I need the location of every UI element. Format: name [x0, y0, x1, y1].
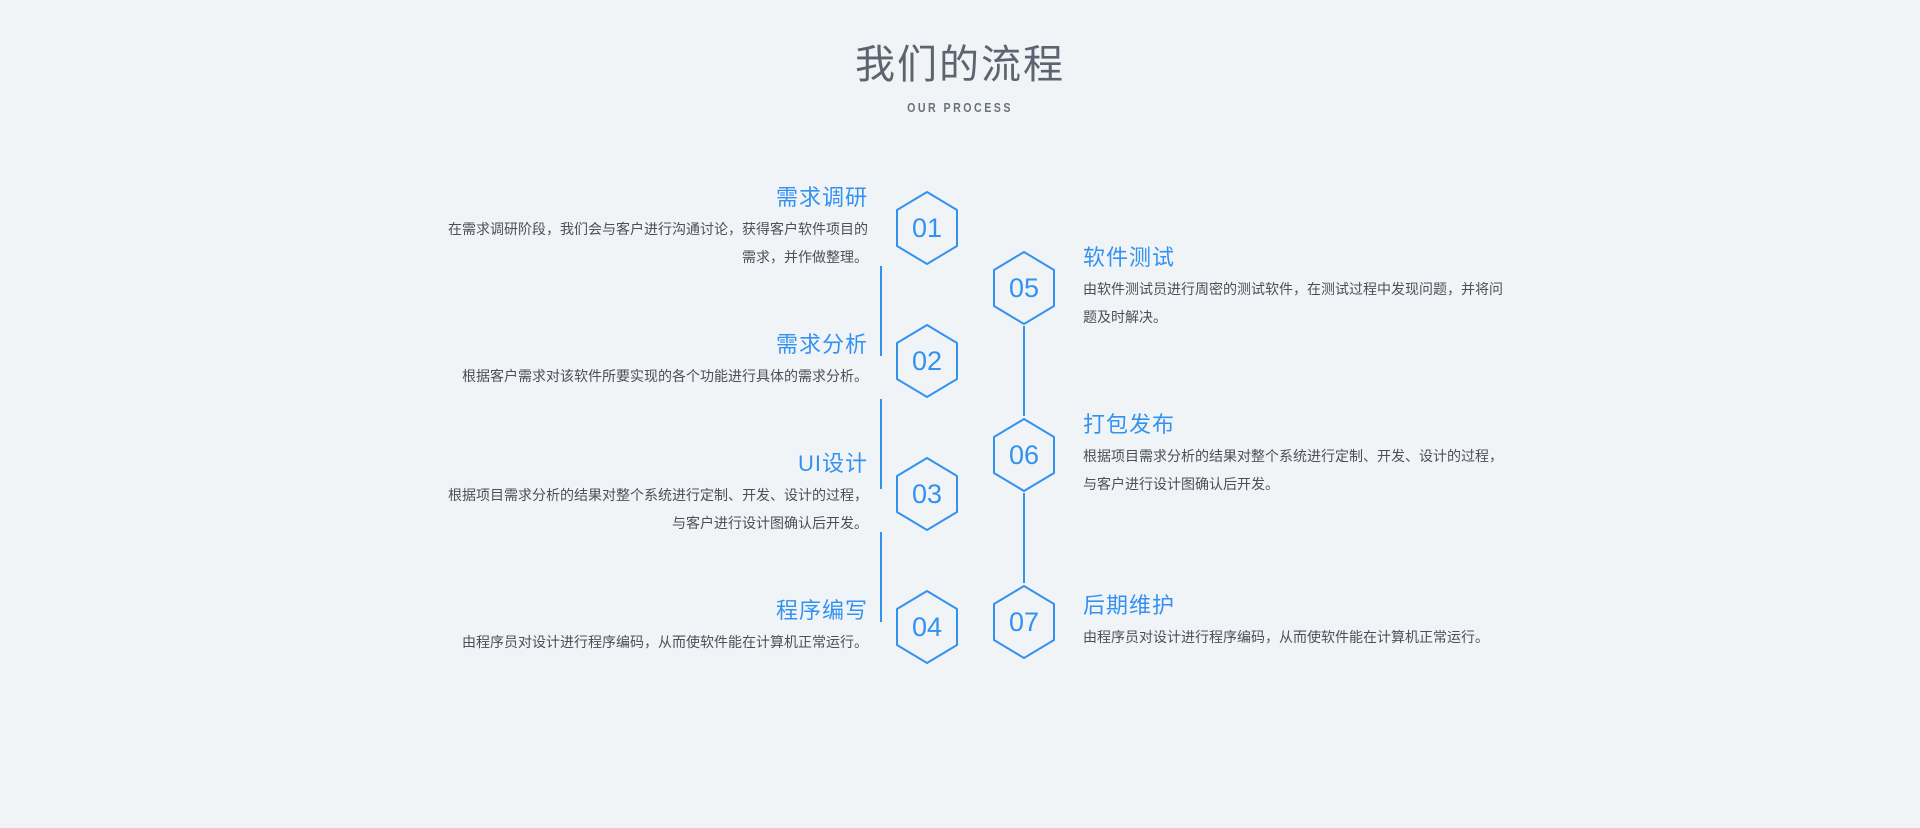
step-heading-02: 需求分析: [220, 330, 868, 360]
step-heading-04: 程序编写: [220, 596, 868, 626]
hexagon-badge-05[interactable]: 05: [991, 250, 1057, 326]
step-text-06: 打包发布 根据项目需求分析的结果对整个系统进行定制、开发、设计的过程，与客户进行…: [1057, 410, 1751, 500]
process-step-04[interactable]: 程序编写 由程序员对设计进行程序编码，从而使软件能在计算机正常运行。 04: [220, 567, 960, 687]
hexagon-badge-07[interactable]: 07: [991, 584, 1057, 660]
process-column-right: 05 软件测试 由软件测试员进行周密的测试软件，在测试过程中发现问题，并将问题及…: [960, 0, 1920, 828]
hexagon-badge-04[interactable]: 04: [894, 589, 960, 665]
step-description-01: 在需求调研阶段，我们会与客户进行沟通讨论，获得客户软件项目的需求，并作做整理。: [448, 217, 868, 273]
step-number-04: 04: [894, 589, 960, 665]
step-number-06: 06: [991, 417, 1057, 493]
hexagon-badge-06[interactable]: 06: [991, 417, 1057, 493]
step-number-01: 01: [894, 190, 960, 266]
process-step-03[interactable]: UI设计 根据项目需求分析的结果对整个系统进行定制、开发、设计的过程，与客户进行…: [220, 434, 960, 554]
hexagon-badge-02[interactable]: 02: [894, 323, 960, 399]
step-number-05: 05: [991, 250, 1057, 326]
step-text-04: 程序编写 由程序员对设计进行程序编码，从而使软件能在计算机正常运行。: [220, 596, 894, 658]
step-description-06: 根据项目需求分析的结果对整个系统进行定制、开发、设计的过程，与客户进行设计图确认…: [1083, 444, 1503, 500]
step-text-01: 需求调研 在需求调研阶段，我们会与客户进行沟通讨论，获得客户软件项目的需求，并作…: [220, 183, 894, 273]
step-number-03: 03: [894, 456, 960, 532]
step-heading-05: 软件测试: [1083, 243, 1751, 273]
step-description-02: 根据客户需求对该软件所要实现的各个功能进行具体的需求分析。: [448, 364, 868, 392]
step-heading-01: 需求调研: [220, 183, 868, 213]
process-infographic: 我们的流程 OUR PROCESS 需求调研 在需求调研阶段，我们会与客户进行沟…: [0, 0, 1920, 828]
step-description-07: 由程序员对设计进行程序编码，从而使软件能在计算机正常运行。: [1083, 625, 1503, 653]
step-text-02: 需求分析 根据客户需求对该软件所要实现的各个功能进行具体的需求分析。: [220, 330, 894, 392]
step-heading-06: 打包发布: [1083, 410, 1751, 440]
hexagon-badge-01[interactable]: 01: [894, 190, 960, 266]
step-number-02: 02: [894, 323, 960, 399]
process-step-07[interactable]: 07 后期维护 由程序员对设计进行程序编码，从而使软件能在计算机正常运行。: [991, 562, 1751, 682]
process-step-01[interactable]: 需求调研 在需求调研阶段，我们会与客户进行沟通讨论，获得客户软件项目的需求，并作…: [220, 168, 960, 288]
process-column-left: 需求调研 在需求调研阶段，我们会与客户进行沟通讨论，获得客户软件项目的需求，并作…: [0, 0, 960, 828]
step-description-05: 由软件测试员进行周密的测试软件，在测试过程中发现问题，并将问题及时解决。: [1083, 277, 1503, 333]
step-number-07: 07: [991, 584, 1057, 660]
step-heading-07: 后期维护: [1083, 591, 1751, 621]
step-text-07: 后期维护 由程序员对设计进行程序编码，从而使软件能在计算机正常运行。: [1057, 591, 1751, 653]
process-step-05[interactable]: 05 软件测试 由软件测试员进行周密的测试软件，在测试过程中发现问题，并将问题及…: [991, 228, 1751, 348]
step-heading-03: UI设计: [220, 449, 868, 479]
hexagon-badge-03[interactable]: 03: [894, 456, 960, 532]
step-text-05: 软件测试 由软件测试员进行周密的测试软件，在测试过程中发现问题，并将问题及时解决…: [1057, 243, 1751, 333]
process-step-02[interactable]: 需求分析 根据客户需求对该软件所要实现的各个功能进行具体的需求分析。 02: [220, 301, 960, 421]
step-text-03: UI设计 根据项目需求分析的结果对整个系统进行定制、开发、设计的过程，与客户进行…: [220, 449, 894, 539]
step-description-04: 由程序员对设计进行程序编码，从而使软件能在计算机正常运行。: [448, 630, 868, 658]
process-step-06[interactable]: 06 打包发布 根据项目需求分析的结果对整个系统进行定制、开发、设计的过程，与客…: [991, 395, 1751, 515]
step-description-03: 根据项目需求分析的结果对整个系统进行定制、开发、设计的过程，与客户进行设计图确认…: [448, 483, 868, 539]
